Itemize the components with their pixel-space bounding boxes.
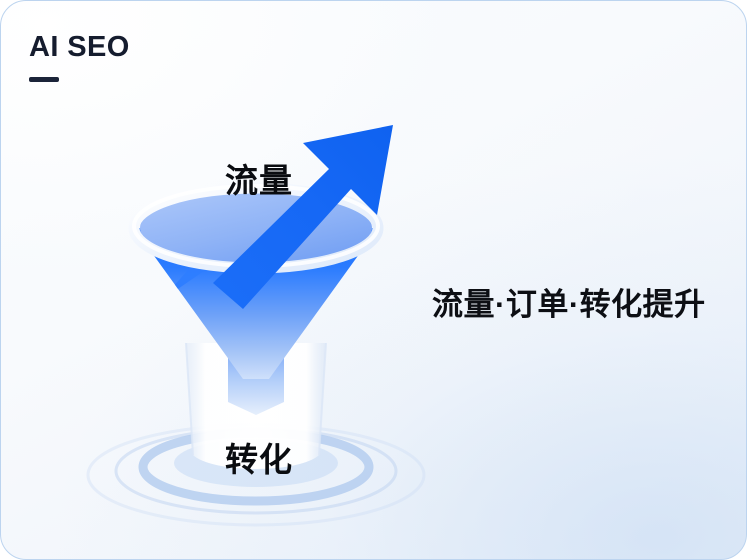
conversion-funnel-illustration	[63, 97, 463, 527]
tagline-text: 流量·订单·转化提升	[432, 279, 706, 324]
underline-rule-icon	[29, 77, 59, 82]
seo-promo-card: AI SEO 流量·订单·转化提升	[0, 0, 747, 560]
page-title: AI SEO	[29, 33, 130, 62]
brand-block: AI SEO	[29, 33, 130, 82]
